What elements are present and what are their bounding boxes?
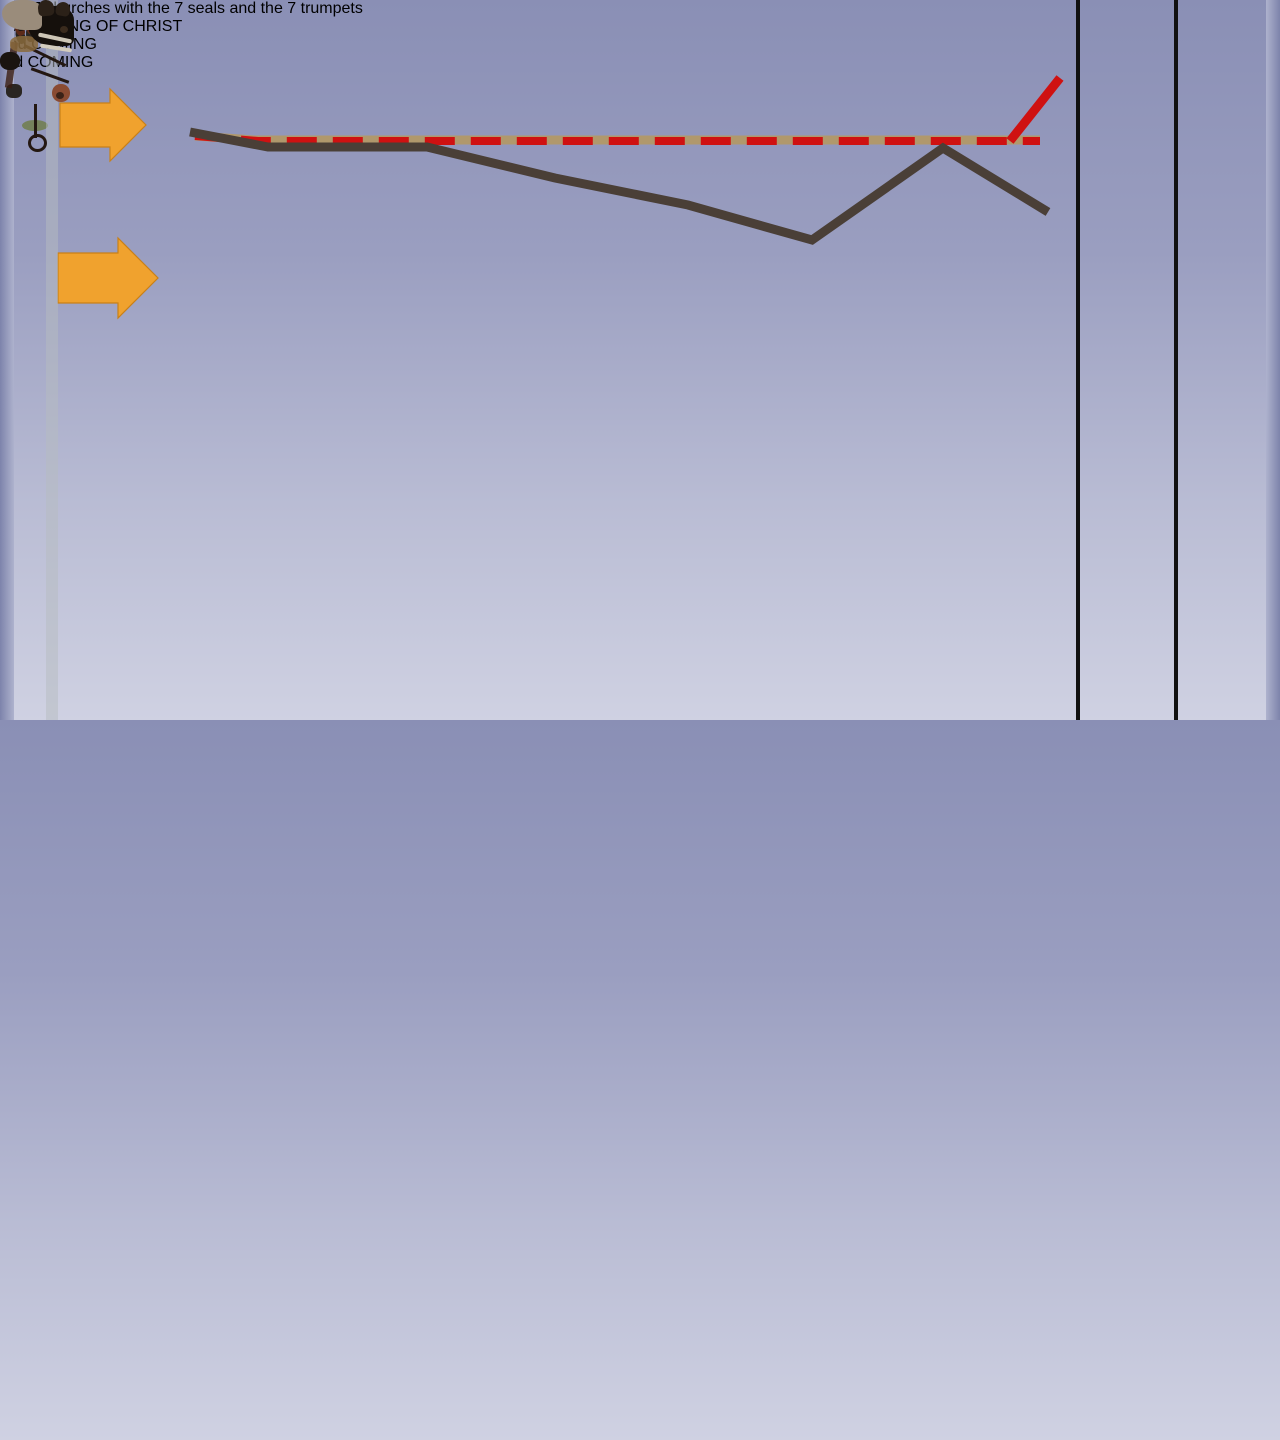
- timeline-rules: [0, 72, 1280, 1440]
- era-chip-2nd-coming[interactable]: 2nd COMING: [0, 36, 1280, 54]
- timeline-divider-0: [1076, 0, 1080, 720]
- slide: The 7 churches with the 7 seals and the …: [0, 0, 1280, 720]
- frame-right: [1266, 0, 1280, 720]
- timeline-divider-1: [1174, 0, 1178, 720]
- timeline-rule-1: [0, 592, 1280, 1112]
- era-chip-1st-coming[interactable]: 1st COMING OF CHRIST: [0, 18, 1280, 36]
- frame-top: [0, 0, 1280, 16]
- era-chip-3rd-coming[interactable]: 3rd COMING: [0, 54, 1280, 72]
- timeline-rule-0: [0, 72, 1280, 592]
- frame-left: [0, 0, 14, 720]
- slide-canvas: 1st COMING OF CHRIST 2nd COMING 3rd COMI…: [0, 18, 1280, 1440]
- timeline-rule-2: [0, 1112, 1280, 1440]
